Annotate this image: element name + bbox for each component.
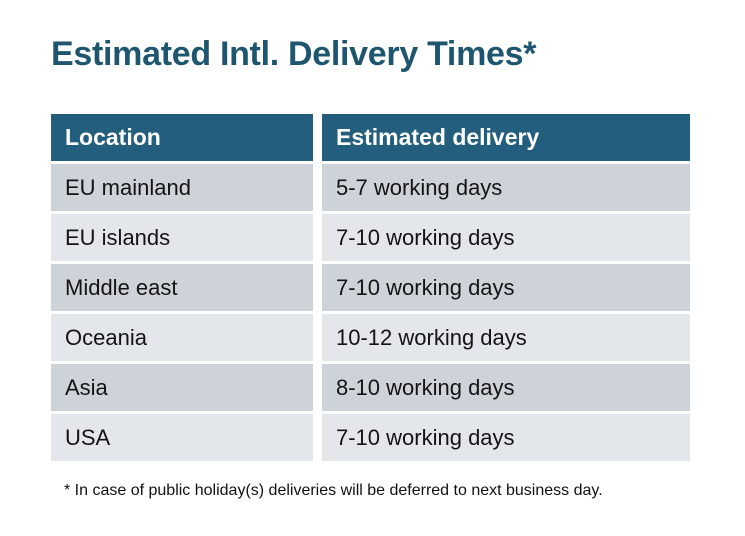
cell-estimated-delivery: 7-10 working days xyxy=(322,264,690,311)
column-header-location: Location xyxy=(51,114,313,161)
cell-location: Asia xyxy=(51,364,313,411)
table-row: EU islands 7-10 working days xyxy=(51,214,690,261)
cell-estimated-delivery: 7-10 working days xyxy=(322,214,690,261)
table-row: USA 7-10 working days xyxy=(51,414,690,461)
cell-estimated-delivery: 8-10 working days xyxy=(322,364,690,411)
footnote-text: * In case of public holiday(s) deliverie… xyxy=(64,482,603,500)
cell-location: EU mainland xyxy=(51,164,313,211)
cell-location: Middle east xyxy=(51,264,313,311)
cell-estimated-delivery: 5-7 working days xyxy=(322,164,690,211)
cell-location: EU islands xyxy=(51,214,313,261)
page-title: Estimated Intl. Delivery Times* xyxy=(51,36,536,73)
delivery-times-page: Estimated Intl. Delivery Times* Location… xyxy=(0,0,745,536)
table-row: Asia 8-10 working days xyxy=(51,364,690,411)
cell-location: USA xyxy=(51,414,313,461)
table-row: Oceania 10-12 working days xyxy=(51,314,690,361)
table-header-row: Location Estimated delivery xyxy=(51,114,690,161)
estimated-delivery-table: Location Estimated delivery EU mainland … xyxy=(51,114,690,464)
table-row: EU mainland 5-7 working days xyxy=(51,164,690,211)
cell-estimated-delivery: 10-12 working days xyxy=(322,314,690,361)
column-header-estimated-delivery: Estimated delivery xyxy=(322,114,690,161)
cell-estimated-delivery: 7-10 working days xyxy=(322,414,690,461)
cell-location: Oceania xyxy=(51,314,313,361)
table-row: Middle east 7-10 working days xyxy=(51,264,690,311)
